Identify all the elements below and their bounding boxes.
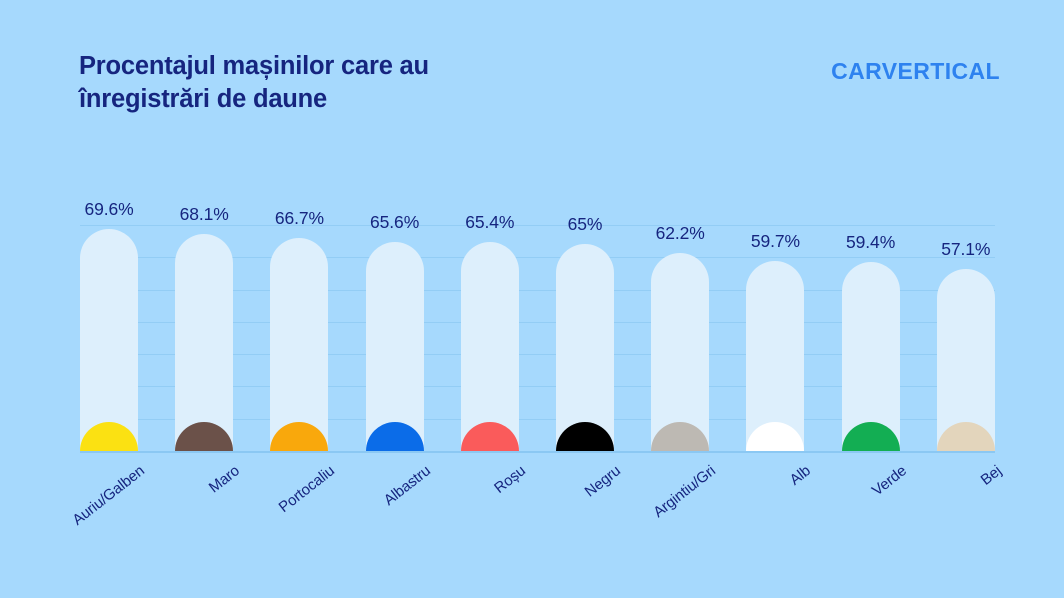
- bar-group[interactable]: 59.7%: [746, 225, 804, 451]
- bar-value-label: 57.1%: [941, 239, 990, 260]
- color-swatch-bej: [937, 422, 995, 451]
- color-swatch-portocaliu: [270, 422, 328, 451]
- bar[interactable]: [842, 262, 900, 451]
- bar-value-label: 62.2%: [656, 223, 705, 244]
- x-axis-label-text: Albastru: [380, 461, 435, 509]
- bar[interactable]: [937, 269, 995, 451]
- x-axis-label-text: Alb: [787, 461, 816, 489]
- color-swatch-negru: [556, 422, 614, 451]
- bar-value-label: 59.4%: [846, 232, 895, 253]
- bar-group[interactable]: 57.1%: [937, 225, 995, 451]
- x-axis-label-text: Verde: [869, 461, 912, 499]
- bar-group[interactable]: 62.2%: [651, 225, 709, 451]
- bar-value-label: 68.1%: [180, 204, 229, 225]
- bar-group[interactable]: 59.4%: [842, 225, 900, 451]
- logo-text-suffix: ERTICAL: [898, 58, 1000, 84]
- bar-value-label: 59.7%: [751, 231, 800, 252]
- bar[interactable]: [556, 244, 614, 451]
- bar-group[interactable]: 66.7%: [270, 225, 328, 451]
- x-axis-label-bej: Bej: [996, 447, 1025, 475]
- x-axis-labels: Auriu/GalbenMaroPortocaliuAlbastruRoșuNe…: [80, 451, 995, 571]
- bar-value-label: 69.6%: [84, 199, 133, 220]
- bar-group[interactable]: 69.6%: [80, 225, 138, 451]
- bar-value-label: 66.7%: [275, 208, 324, 229]
- bar-value-label: 65.6%: [370, 212, 419, 233]
- color-swatch-argintiu-gri: [651, 422, 709, 451]
- logo-text-prefix: CAR: [831, 58, 882, 84]
- carvertical-logo: CARVERTICAL: [831, 58, 1000, 84]
- bar-group[interactable]: 65.6%: [366, 225, 424, 451]
- bar[interactable]: [80, 229, 138, 451]
- x-axis-label-alb: Alb: [805, 447, 834, 475]
- infographic-canvas: Procentajul mașinilor care au înregistră…: [0, 0, 1064, 598]
- page-title: Procentajul mașinilor care au înregistră…: [79, 50, 639, 116]
- x-axis-label-text: Roșu: [491, 461, 530, 497]
- header: Procentajul mașinilor care au înregistră…: [0, 0, 1064, 140]
- bar[interactable]: [366, 242, 424, 451]
- x-axis-label-text: Maro: [206, 461, 245, 496]
- color-swatch-verde: [842, 422, 900, 451]
- bar-value-label: 65%: [568, 214, 603, 235]
- x-axis-label-text: Bej: [977, 461, 1006, 489]
- bar-group[interactable]: 65.4%: [461, 225, 519, 451]
- x-axis-label-text: Auriu/Galben: [69, 461, 149, 529]
- bar-value-label: 65.4%: [465, 212, 514, 233]
- x-axis-label-text: Portocaliu: [276, 461, 340, 516]
- x-axis-label-text: Negru: [582, 461, 626, 500]
- color-swatch-auriu-galben: [80, 422, 138, 451]
- x-axis-label-text: Argintiu/Gri: [650, 461, 720, 521]
- bar[interactable]: [651, 253, 709, 451]
- bar[interactable]: [270, 238, 328, 451]
- logo-text-v: V: [882, 58, 898, 84]
- bar-group[interactable]: 65%: [556, 225, 614, 451]
- bar[interactable]: [461, 242, 519, 451]
